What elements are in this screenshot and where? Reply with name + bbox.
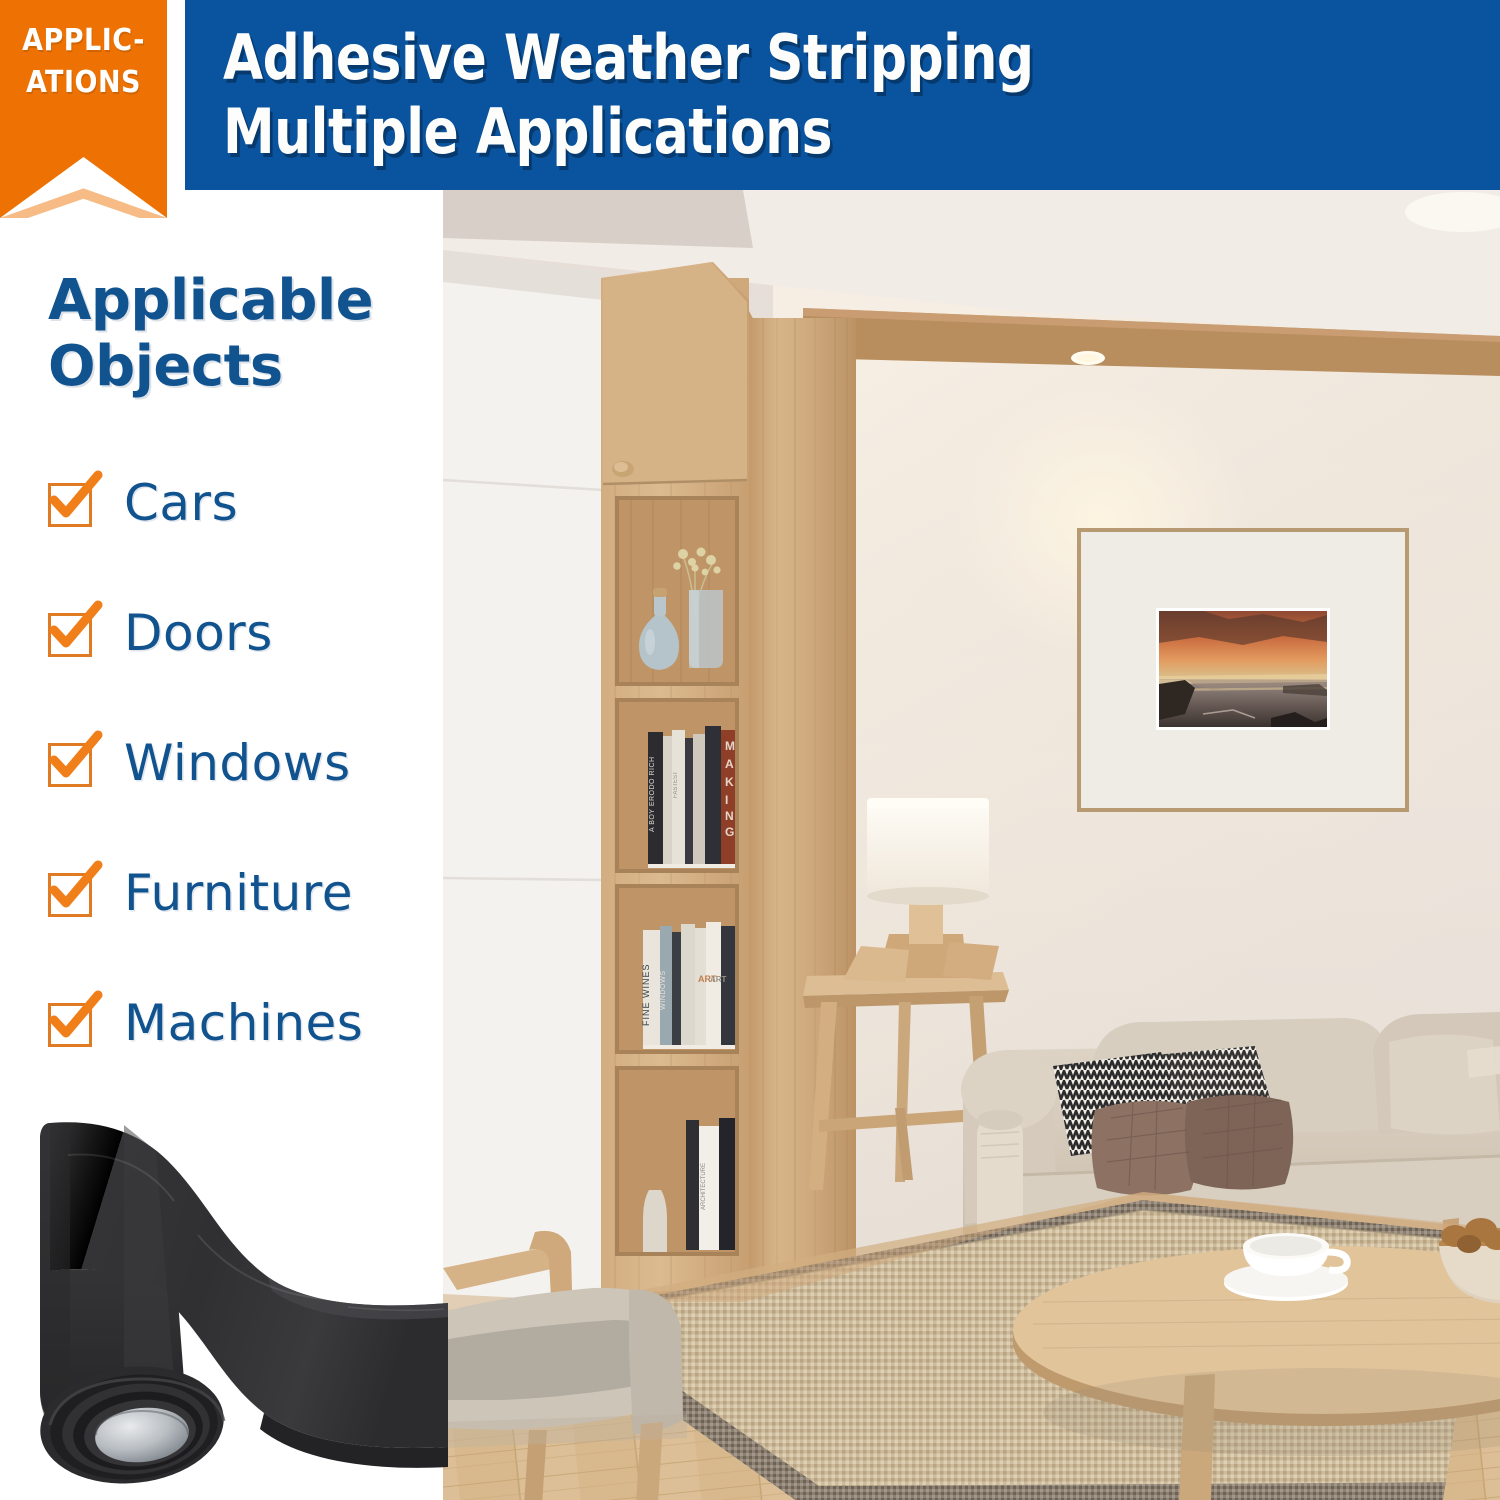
svg-text:N: N [725,809,734,823]
ceiling-recess [443,190,753,248]
black-weather-stripping-roll [28,1095,458,1500]
brown-velvet-pillow [1091,1092,1293,1196]
cork-stopper [653,588,667,597]
checkbox-checked-icon [46,867,98,919]
list-item-label: Cars [124,476,238,530]
ribbon-label: APPLIC- ATIONS [0,20,167,104]
svg-text:A BOY ERODO RICH: A BOY ERODO RICH [649,756,656,832]
books-lower: ARCHITECTURE [686,1118,735,1250]
list-item-label: Doors [124,606,273,660]
header-title-line-2: Multiple Applications [223,95,1411,169]
svg-text:M: M [725,739,735,753]
checkbox-checked-icon [46,477,98,529]
svg-text:FASTEST: FASTEST [673,771,679,798]
list-item-label: Furniture [124,866,353,920]
books-middle: FINE WINES WINDOWS ART ART [641,922,735,1049]
ribbon-label-line-1: APPLIC- [0,20,167,62]
checkmark-icon [45,990,103,1048]
svg-text:WINDOWS: WINDOWS [660,970,667,1010]
floor-vase [643,1190,667,1252]
framed-sunset-artwork [1077,528,1409,812]
list-item: Doors [46,602,446,664]
svg-text:ARCHITECTURE: ARCHITECTURE [701,1163,707,1210]
list-item-label: Windows [124,736,351,790]
list-item: Machines [46,992,446,1054]
svg-text:G: G [725,825,734,839]
page-title-line-2: Objects [48,334,428,400]
applications-ribbon: APPLIC- ATIONS [0,0,167,218]
living-room-interior-photo: A BOY ERODO RICH FASTEST MA KI NG [443,190,1500,1500]
header-title-line-1: Adhesive Weather Stripping [223,21,1411,95]
lamp-base-wing-right [943,942,999,980]
lamp-shade [867,798,989,896]
applicable-objects-list: Cars Doors Windows [46,472,446,1122]
checkbox-checked-icon [46,607,98,659]
room-scene-svg: A BOY ERODO RICH FASTEST MA KI NG [443,190,1500,1500]
checkmark-icon [45,730,103,788]
books-upper: A BOY ERODO RICH FASTEST MA KI NG [648,726,735,868]
list-item: Furniture [46,862,446,924]
page-title: Applicable Objects [48,268,428,400]
list-item: Windows [46,732,446,794]
checkmark-icon [45,600,103,658]
list-item: Cars [46,472,446,534]
checkbox-checked-icon [46,737,98,789]
header-banner: Adhesive Weather Stripping Multiple Appl… [185,0,1500,190]
page-title-line-1: Applicable [48,268,428,334]
wooden-shelving-unit [751,318,856,1283]
checkbox-checked-icon [46,997,98,1049]
ribbon-label-line-2: ATIONS [0,62,167,104]
checkmark-icon [45,860,103,918]
weather-stripping-roll-svg [28,1095,458,1500]
svg-text:FINE WINES: FINE WINES [641,963,651,1026]
svg-text:I: I [725,793,728,807]
checkmark-icon [45,470,103,528]
upper-cabinet-door [603,262,747,484]
list-item-label: Machines [124,996,363,1050]
svg-text:A: A [725,757,734,771]
svg-text:K: K [725,775,734,789]
svg-text:ART: ART [710,975,727,984]
throw-fringe [1467,1046,1500,1078]
product-infographic-page: A BOY ERODO RICH FASTEST MA KI NG [0,0,1500,1500]
